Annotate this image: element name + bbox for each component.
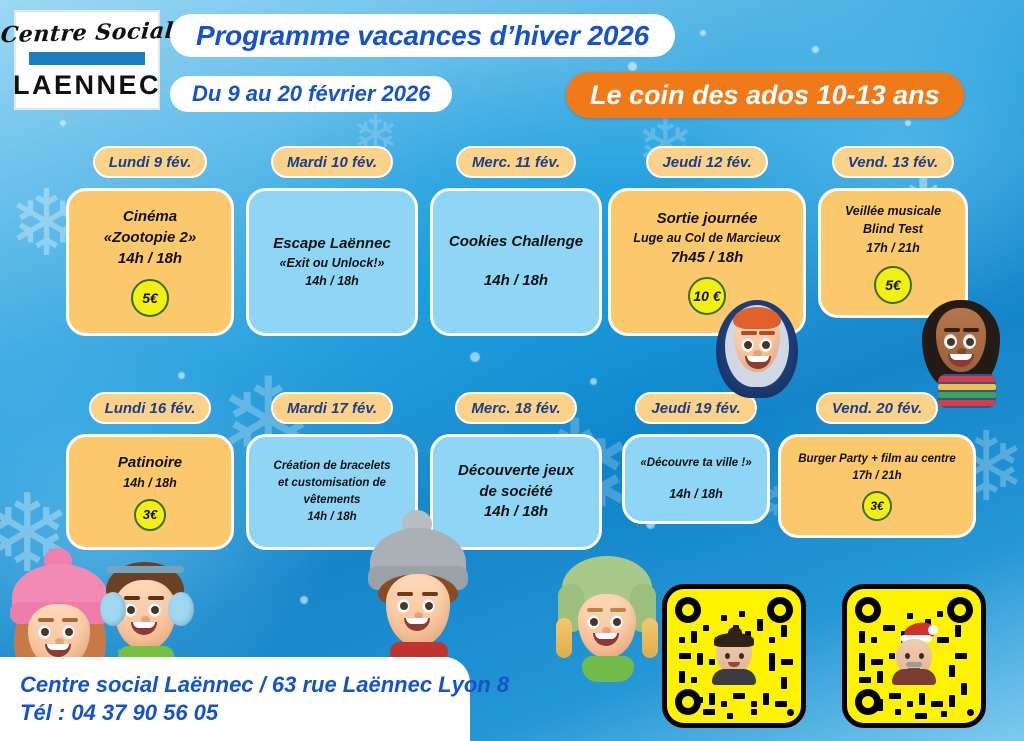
activity-line: Cookies Challenge	[449, 232, 583, 253]
day-pill: Lundi 9 fév.	[93, 146, 208, 178]
activity-line: Découverte jeux	[458, 461, 574, 482]
eye	[148, 602, 161, 617]
day-pill-label: Mardi 10 fév.	[287, 154, 377, 171]
scarf-stripe	[938, 384, 996, 390]
bitmoji-eye	[919, 653, 924, 659]
activity-line: «Découvre ta ville !»	[640, 455, 751, 472]
bokeh-dot	[812, 46, 819, 53]
smile	[131, 622, 157, 635]
activity-line: «Zootopie 2»	[104, 228, 197, 249]
day-pill: Merc. 18 fév.	[455, 392, 576, 424]
eyebrow	[124, 596, 140, 600]
eyebrow	[397, 592, 413, 596]
price-badge: 5€	[131, 279, 169, 317]
activity-line: vêtements	[304, 492, 361, 509]
bitmoji-eye	[739, 653, 744, 659]
activity-line: 14h / 18h	[484, 502, 548, 523]
bokeh-dot	[300, 596, 308, 604]
beanie-brim	[10, 602, 110, 624]
nose	[957, 348, 966, 355]
day-pill-label: Jeudi 19 fév.	[651, 400, 740, 417]
day-pill-label: Lundi 9 fév.	[109, 154, 192, 171]
day-column: Jeudi 19 fév. «Découvre ta ville !» 14h …	[622, 392, 770, 524]
day-pill-label: Mardi 17 fév.	[287, 400, 377, 417]
eye	[38, 624, 51, 639]
page-title-text: Programme vacances d’hiver 2026	[196, 20, 649, 52]
activity-line: Blind Test	[863, 220, 923, 238]
bokeh-dot	[590, 378, 597, 385]
date-range-badge: Du 9 au 20 février 2026	[170, 76, 452, 112]
activity-line: et customisation de	[278, 475, 386, 492]
nose	[55, 638, 64, 645]
beanie-pompom	[44, 548, 72, 574]
bitmoji-avatar	[888, 627, 940, 685]
activity-line: «Exit ou Unlock!»	[280, 254, 385, 272]
price-badge: 5€	[874, 266, 912, 304]
bokeh-dot	[700, 30, 706, 36]
eye	[741, 337, 754, 352]
trapper-flap-right	[630, 584, 656, 632]
day-pill-label: Jeudi 12 fév.	[662, 154, 751, 171]
day-column: Merc. 18 fév. Découverte jeux de société…	[430, 392, 602, 550]
day-pill: Mardi 10 fév.	[271, 146, 393, 178]
smile	[593, 633, 619, 646]
bokeh-dot	[178, 372, 185, 379]
activity-card[interactable]: Escape Laënnec «Exit ou Unlock!» 14h / 1…	[246, 188, 418, 336]
day-pill: Lundi 16 fév.	[89, 392, 212, 424]
day-pill: Jeudi 12 fév.	[646, 146, 767, 178]
eye	[397, 598, 410, 613]
day-column: Lundi 16 fév. Patinoire 14h / 18h 3€	[66, 392, 234, 550]
snapchat-qr-left[interactable]	[662, 584, 806, 728]
bokeh-dot	[470, 352, 480, 362]
nose	[753, 350, 762, 357]
day-column: Merc. 11 fév. Cookies Challenge 14h / 18…	[430, 146, 602, 336]
day-pill-label: Merc. 11 fév.	[472, 154, 560, 171]
eyebrow	[587, 608, 603, 612]
eyebrow	[148, 596, 164, 600]
character-girl-green-trapper-hat	[552, 556, 662, 692]
activity-line: 14h / 18h	[123, 474, 177, 492]
nose	[414, 612, 423, 619]
day-column: Vend. 20 fév. Burger Party + film au cen…	[778, 392, 976, 538]
activity-line: 7h45 / 18h	[671, 248, 744, 269]
day-column: Jeudi 12 fév. Sortie journée Luge au Col…	[608, 146, 806, 336]
activity-line: 17h / 21h	[866, 239, 920, 257]
audience-banner: Le coin des ados 10-13 ans	[566, 72, 964, 118]
centre-social-logo: Centre Social LAENNEC	[14, 10, 160, 110]
day-pill: Merc. 11 fév.	[456, 146, 576, 178]
hair	[106, 562, 184, 606]
qr-finder-top-left	[675, 597, 701, 623]
face	[114, 580, 176, 650]
beanie-brim	[368, 566, 468, 590]
eye	[62, 624, 75, 639]
eye	[587, 614, 600, 629]
activity-line: 14h / 18h	[484, 271, 548, 292]
day-pill: Vend. 13 fév.	[832, 146, 954, 178]
activity-line: 14h / 18h	[118, 249, 182, 270]
bitmoji-body	[892, 669, 936, 685]
bitmoji-avatar	[708, 627, 760, 685]
eyebrow	[422, 592, 438, 596]
price-badge: 3€	[134, 499, 166, 531]
eye	[759, 337, 772, 352]
day-column: Mardi 17 fév. Création de bracelets et c…	[246, 392, 418, 550]
qr-finder-top-right	[947, 597, 973, 623]
eyebrow	[38, 618, 54, 622]
eye	[610, 614, 623, 629]
page-title: Programme vacances d’hiver 2026	[170, 14, 675, 57]
braid-left	[556, 618, 572, 658]
activity-line: 14h / 18h	[669, 485, 723, 503]
earmuff-band	[106, 566, 184, 573]
trapper-hat	[562, 556, 652, 608]
logo-script-text: Centre Social	[0, 17, 174, 48]
qr-finder-bottom-left	[855, 689, 881, 715]
day-pill-label: Lundi 16 fév.	[105, 400, 196, 417]
eyebrow	[610, 608, 626, 612]
eye	[944, 334, 957, 349]
price-badge: 10 €	[688, 277, 726, 315]
activity-line: Création de bracelets	[274, 458, 391, 475]
date-range-text: Du 9 au 20 février 2026	[192, 81, 430, 107]
bitmoji-body	[712, 669, 756, 685]
activity-card[interactable]: Patinoire 14h / 18h 3€	[66, 434, 234, 550]
nose	[602, 627, 611, 634]
audience-banner-text: Le coin des ados 10-13 ans	[590, 80, 940, 111]
eye	[124, 602, 137, 617]
trapper-flap-left	[558, 584, 584, 632]
moustache	[906, 662, 922, 667]
earmuff-left	[100, 592, 126, 626]
smile	[948, 354, 974, 367]
smile	[45, 644, 71, 657]
eyebrow	[944, 328, 960, 332]
qr-finder-bottom-left	[675, 689, 701, 715]
smile	[745, 356, 771, 369]
day-column: Mardi 10 fév. Escape Laënnec «Exit ou Un…	[246, 146, 418, 336]
footer-contact-panel: Centre social Laënnec / 63 rue Laënnec L…	[0, 657, 470, 741]
day-pill: Jeudi 19 fév.	[635, 392, 756, 424]
activity-line: Patinoire	[118, 453, 182, 474]
activity-line: Cinéma	[123, 207, 177, 228]
bitmoji-hair	[714, 633, 754, 647]
hair	[378, 574, 458, 606]
braid-right	[642, 618, 658, 658]
qr-finder-top-left	[855, 597, 881, 623]
activity-card[interactable]: «Découvre ta ville !» 14h / 18h	[622, 434, 770, 524]
qr-finder-top-right	[767, 597, 793, 623]
day-pill: Mardi 17 fév.	[271, 392, 393, 424]
bokeh-dot	[628, 62, 637, 71]
activity-card[interactable]: Cookies Challenge 14h / 18h	[430, 188, 602, 336]
poster-canvas: ❄ ❄ ❄ ❄ ❄ ❄ ❄ ❄ ❄ ❄ Centre Social LAENNE…	[0, 0, 1024, 741]
activity-card[interactable]: Burger Party + film au centre 17h / 21h …	[778, 434, 976, 538]
activity-line: 17h / 21h	[852, 468, 901, 485]
logo-divider-bar	[29, 52, 145, 65]
face	[386, 574, 450, 646]
price-badge: 3€	[862, 491, 892, 521]
activity-card[interactable]: Découverte jeux de société 14h / 18h	[430, 434, 602, 550]
day-column: Lundi 9 fév. Cinéma «Zootopie 2» 14h / 1…	[66, 146, 234, 336]
scarf-stripe	[938, 376, 996, 382]
beanie-hat	[12, 564, 108, 618]
nose	[141, 616, 150, 623]
snowflake-icon: ❄	[0, 480, 73, 588]
activity-line: Sortie journée	[657, 209, 758, 230]
activity-line: de société	[479, 482, 552, 503]
snapchat-qr-right[interactable]	[842, 584, 986, 728]
bokeh-dot	[60, 120, 66, 126]
day-pill-label: Vend. 13 fév.	[848, 154, 938, 171]
activity-line: Veillée musicale	[845, 202, 941, 220]
sweater-collar	[582, 656, 634, 682]
activity-line: 14h / 18h	[305, 272, 359, 290]
eyebrow	[62, 618, 78, 622]
footer-phone: Tél : 04 37 90 56 05	[20, 699, 450, 727]
bitmoji-eye	[725, 653, 730, 659]
face	[578, 594, 636, 658]
earmuff-right	[168, 592, 194, 626]
activity-line: Luge au Col de Marcieux	[633, 229, 780, 247]
logo-name-text: LAENNEC	[13, 70, 161, 101]
bitmoji-mouth	[728, 662, 740, 667]
footer-address: Centre social Laënnec / 63 rue Laënnec L…	[20, 671, 450, 699]
activity-line: 14h / 18h	[307, 509, 356, 526]
bokeh-dot	[905, 120, 911, 126]
bitmoji-eye	[905, 653, 910, 659]
smile	[404, 618, 430, 631]
santa-hat-pompom	[928, 625, 938, 635]
day-pill-label: Vend. 20 fév.	[832, 400, 922, 417]
activity-line: Escape Laënnec	[273, 234, 391, 255]
activity-card[interactable]: Création de bracelets et customisation d…	[246, 434, 418, 550]
eye	[963, 334, 976, 349]
eye	[422, 598, 435, 613]
activity-line: Burger Party + film au centre	[798, 451, 956, 468]
day-pill-label: Merc. 18 fév.	[471, 400, 560, 417]
eyebrow	[963, 328, 979, 332]
activity-card[interactable]: Sortie journée Luge au Col de Marcieux 7…	[608, 188, 806, 336]
activity-card[interactable]: Veillée musicale Blind Test 17h / 21h 5€	[818, 188, 968, 318]
day-pill: Vend. 20 fév.	[816, 392, 938, 424]
day-column: Vend. 13 fév. Veillée musicale Blind Tes…	[818, 146, 968, 318]
activity-card[interactable]: Cinéma «Zootopie 2» 14h / 18h 5€	[66, 188, 234, 336]
